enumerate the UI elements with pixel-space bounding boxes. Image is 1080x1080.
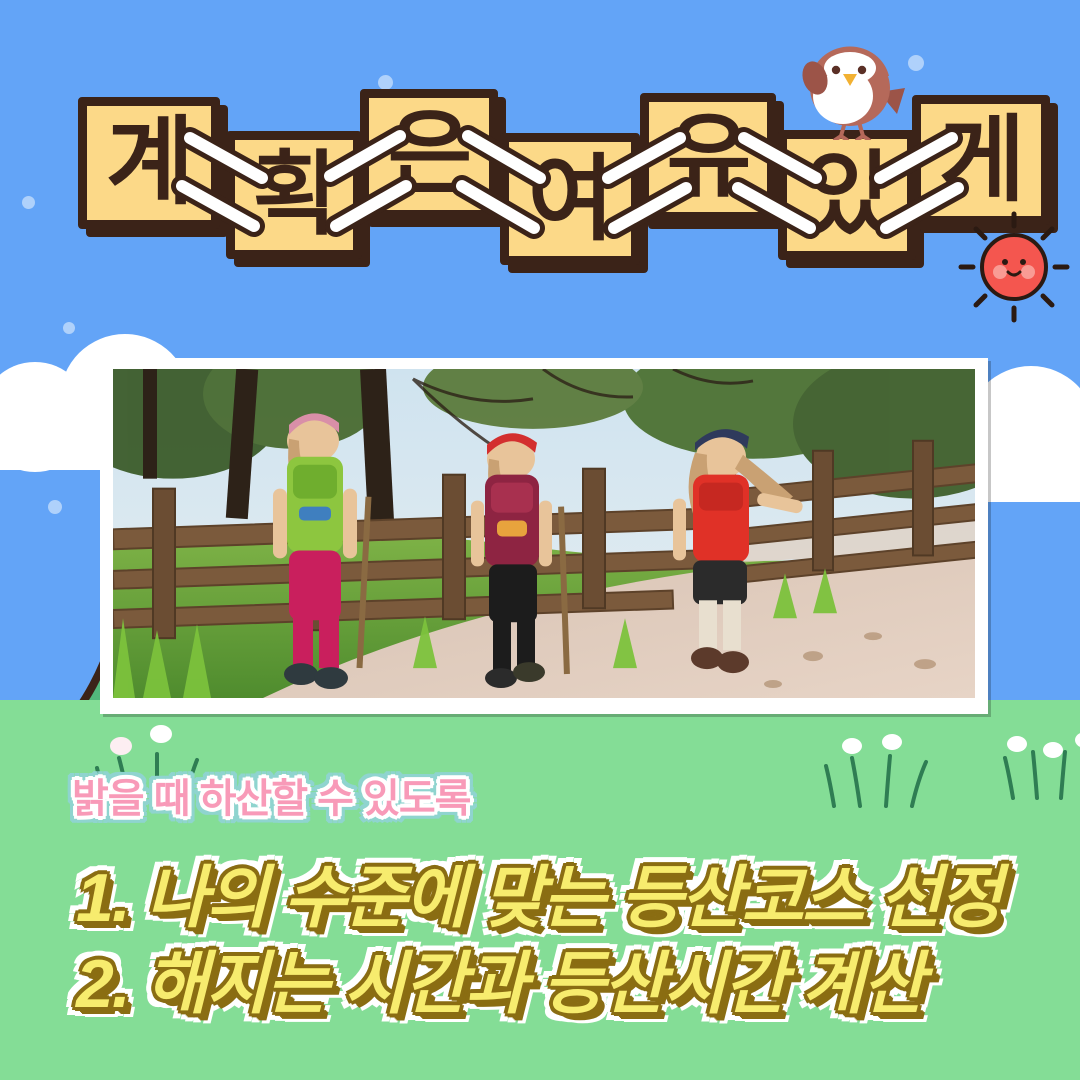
grass-tuft-center	[812, 730, 952, 810]
title-tile-1: 획	[226, 131, 362, 259]
title-tile-4: 유	[640, 93, 776, 221]
hiking-tips-card: 계획은여유있게	[0, 0, 1080, 1080]
bubble-5	[48, 500, 62, 514]
title-tile-0: 계	[78, 97, 220, 229]
bird-icon	[793, 36, 911, 140]
hiking-photo	[113, 369, 975, 698]
cloud-right	[986, 348, 1080, 498]
title-tile-5: 있	[778, 130, 916, 260]
grass-tuft-right	[995, 726, 1080, 806]
title-tile-2: 은	[360, 89, 498, 219]
title-tile-6: 게	[912, 95, 1050, 225]
hiking-photo-frame	[100, 358, 988, 714]
title-tile-3: 여	[500, 133, 640, 265]
tip-item-2: 2. 해지는 시간과 등산시간 계산	[76, 928, 923, 1027]
tip-item-1: 1. 나의 수준에 맞는 등산코스 선정	[76, 842, 1000, 941]
subtitle-text: 밝을 때 하산할 수 있도록	[72, 766, 470, 824]
headline-title: 계획은여유있게	[0, 0, 1080, 260]
sun-icon	[955, 208, 1073, 326]
